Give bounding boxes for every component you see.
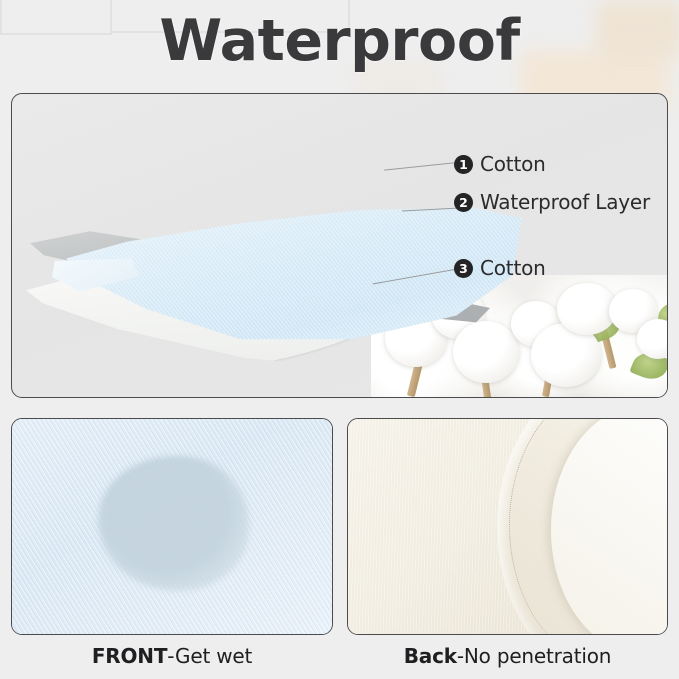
front-caption-strong: FRONT: [92, 644, 167, 668]
fabric-layer-diagram-panel: [11, 93, 668, 398]
front-caption: FRONT-Get wet: [11, 644, 333, 668]
page-title: Waterproof: [0, 8, 679, 74]
layer-badge-3: 3: [454, 259, 473, 278]
back-caption: Back-No penetration: [347, 644, 668, 668]
wet-spot: [98, 456, 248, 591]
front-fabric-panel: [11, 418, 333, 635]
layer-label-1: 1 Cotton: [454, 152, 546, 176]
back-caption-strong: Back: [404, 644, 457, 668]
layer-label-2-text: Waterproof Layer: [480, 190, 650, 214]
cotton-boll: [557, 283, 617, 335]
layer-badge-1: 1: [454, 155, 473, 174]
leader-line-layer-1: [384, 162, 454, 170]
layer-label-2: 2 Waterproof Layer: [454, 190, 650, 214]
layer-1-surface: [52, 198, 522, 366]
layer-1-cotton-sheet: [52, 198, 522, 366]
layer-label-1-text: Cotton: [480, 152, 546, 176]
back-caption-rest: -No penetration: [457, 644, 611, 668]
front-caption-rest: -Get wet: [167, 644, 252, 668]
layer-label-3: 3 Cotton: [454, 256, 546, 280]
back-fabric-panel: [347, 418, 668, 635]
layer-label-3-text: Cotton: [480, 256, 546, 280]
layer-badge-2: 2: [454, 193, 473, 212]
